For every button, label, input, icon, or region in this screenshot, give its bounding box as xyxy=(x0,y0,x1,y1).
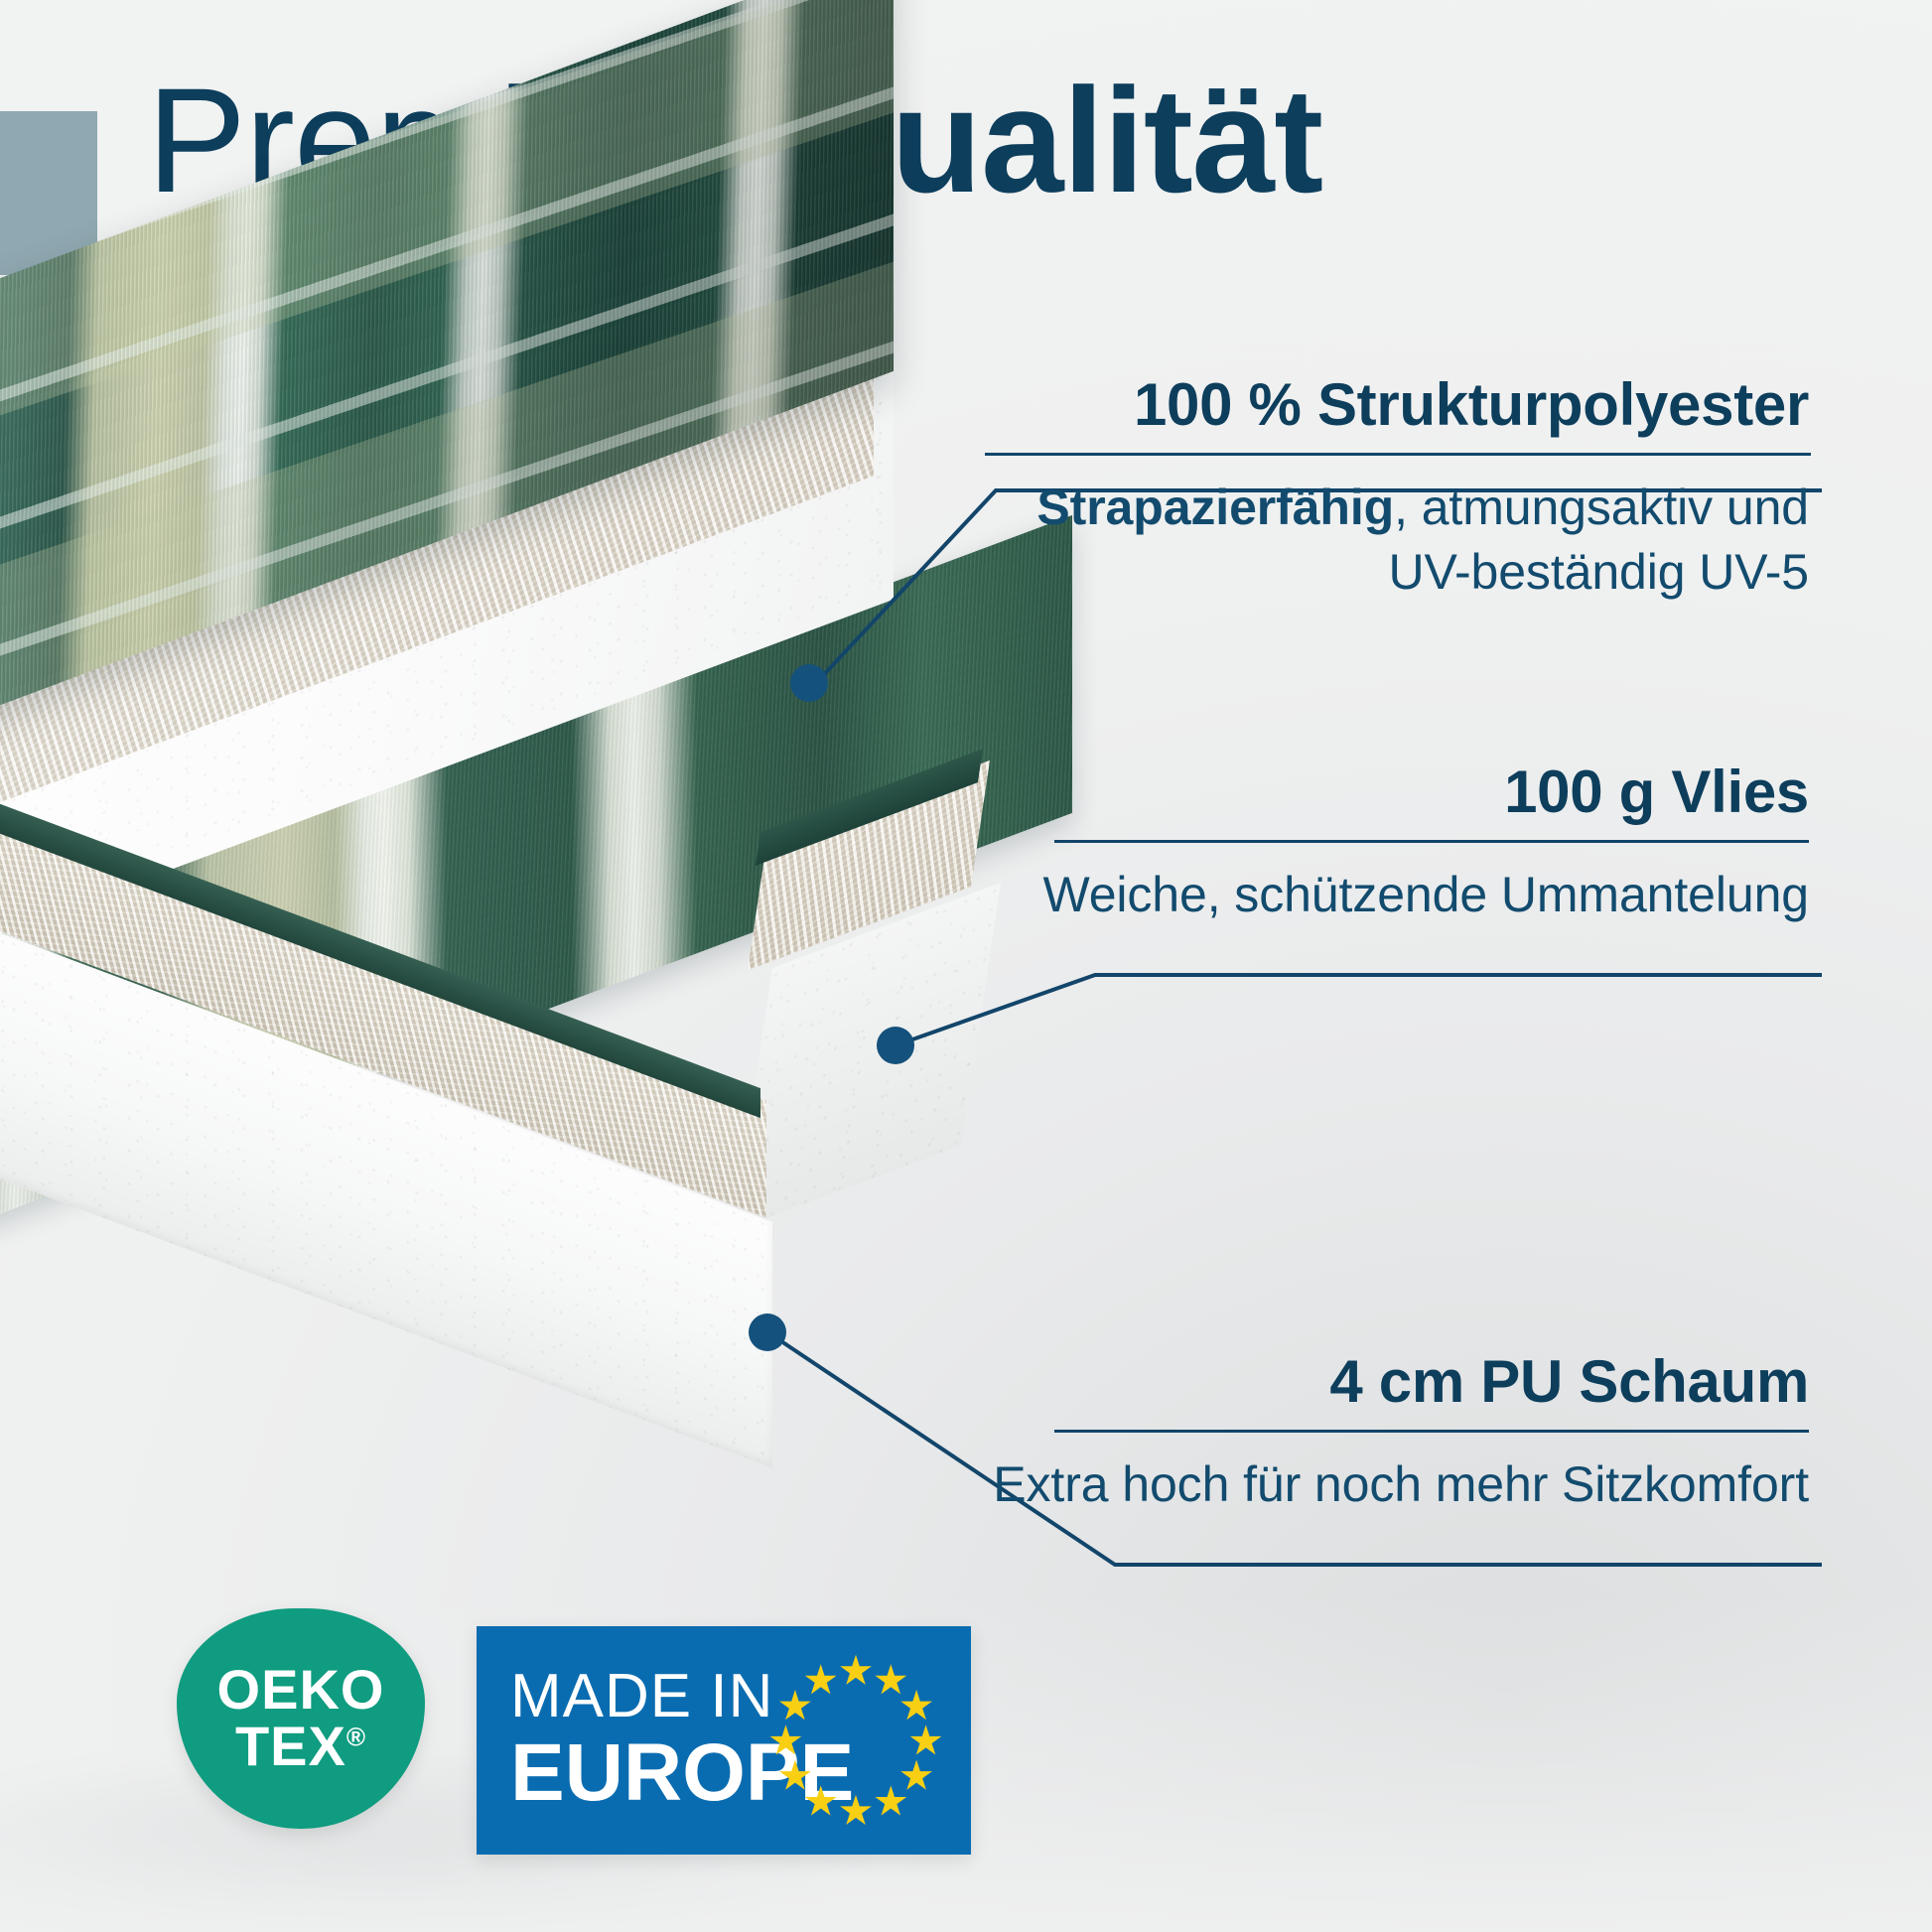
eu-star xyxy=(900,1690,932,1720)
eu-star xyxy=(875,1785,906,1815)
registered-trademark-icon: ® xyxy=(346,1723,366,1752)
eu-star xyxy=(840,1795,872,1825)
oeko-tex-badge: OEKO TEX® xyxy=(177,1608,425,1829)
certification-badges: OEKO TEX® MADE IN EUROPE xyxy=(0,0,1932,1932)
oeko-tex-line2-text: TEX xyxy=(235,1715,346,1777)
oeko-tex-line1: OEKO xyxy=(217,1661,385,1718)
product-infographic: Premium Qualität xyxy=(0,0,1932,1932)
eu-star xyxy=(805,1664,837,1694)
eu-star xyxy=(779,1760,811,1790)
eu-star xyxy=(805,1785,837,1815)
oeko-tex-line2: TEX® xyxy=(235,1718,366,1776)
made-in-europe-badge: MADE IN EUROPE xyxy=(477,1626,971,1855)
eu-star xyxy=(770,1725,802,1754)
eu-star xyxy=(779,1690,811,1720)
eu-star xyxy=(910,1725,942,1754)
eu-star xyxy=(875,1664,906,1694)
eu-stars-icon xyxy=(759,1644,953,1839)
eu-star xyxy=(900,1760,932,1790)
eu-star xyxy=(840,1655,872,1685)
